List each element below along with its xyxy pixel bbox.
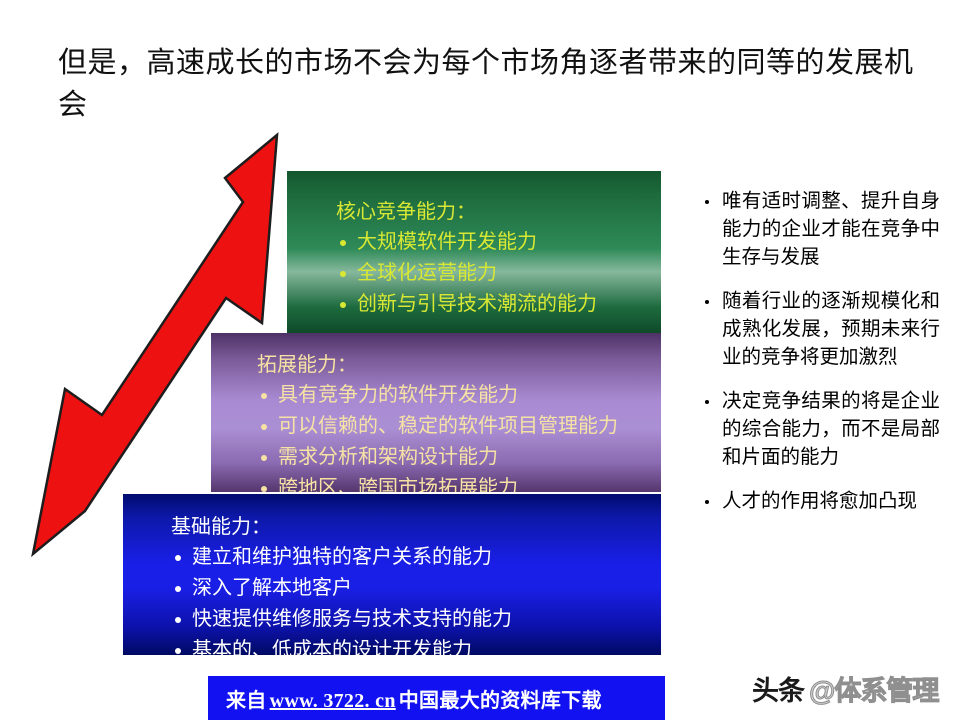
pyramid-tier-expand[interactable]: 拓展能力： 具有竞争力的软件开发能力 可以信赖的、稳定的软件项目管理能力 需求分…	[211, 333, 661, 492]
list-item: 建立和维护独特的客户关系的能力	[171, 542, 661, 573]
list-item: 深入了解本地客户	[171, 573, 661, 604]
source-url-link[interactable]: www. 3722. cn	[267, 690, 399, 712]
list-item: 跨地区、跨国市场拓展能力	[257, 473, 661, 492]
list-item: 大规模软件开发能力	[336, 227, 661, 258]
tier-base-content: 基础能力： 建立和维护独特的客户关系的能力 深入了解本地客户 快速提供维修服务与…	[123, 494, 661, 655]
side-notes-panel: 唯有适时调整、提升自身能力的企业才能在竞争中生存与发展 随着行业的逐渐规模化和成…	[700, 188, 940, 532]
source-suffix: 中国最大的资料库下载	[399, 690, 602, 712]
tier-expand-content: 拓展能力： 具有竞争力的软件开发能力 可以信赖的、稳定的软件项目管理能力 需求分…	[211, 333, 661, 492]
source-prefix: 来自	[226, 690, 267, 712]
source-bar-text: 来自www. 3722. cn中国最大的资料库下载	[208, 684, 602, 713]
list-item: 创新与引导技术潮流的能力	[336, 289, 661, 320]
list-item: 全球化运营能力	[336, 258, 661, 289]
watermark-handle: @体系管理	[809, 669, 938, 708]
list-item: 具有竞争力的软件开发能力	[257, 380, 661, 411]
tier-expand-list: 具有竞争力的软件开发能力 可以信赖的、稳定的软件项目管理能力 需求分析和架构设计…	[257, 380, 661, 492]
list-item: 人才的作用将愈加凸现	[700, 488, 940, 516]
pyramid-tier-core[interactable]: 核心竞争能力： 大规模软件开发能力 全球化运营能力 创新与引导技术潮流的能力	[287, 171, 661, 333]
watermark: 头条 @体系管理	[752, 669, 938, 708]
pyramid-tier-base[interactable]: 基础能力： 建立和维护独特的客户关系的能力 深入了解本地客户 快速提供维修服务与…	[123, 494, 661, 655]
list-item: 基本的、低成本的设计开发能力	[171, 635, 661, 655]
list-item: 随着行业的逐渐规模化和成熟化发展，预期未来行业的竞争将更加激烈	[700, 288, 940, 372]
list-item: 快速提供维修服务与技术支持的能力	[171, 604, 661, 635]
tier-core-content: 核心竞争能力： 大规模软件开发能力 全球化运营能力 创新与引导技术潮流的能力	[287, 171, 661, 320]
tier-core-heading: 核心竞争能力：	[336, 197, 661, 227]
list-item: 可以信赖的、稳定的软件项目管理能力	[257, 411, 661, 442]
page-title: 但是，高速成长的市场不会为每个市场角逐者带来的同等的发展机会	[58, 42, 918, 126]
source-bar: 来自www. 3722. cn中国最大的资料库下载	[208, 676, 665, 720]
tier-base-list: 建立和维护独特的客户关系的能力 深入了解本地客户 快速提供维修服务与技术支持的能…	[171, 542, 661, 655]
list-item: 决定竞争结果的将是企业的综合能力，而不是局部和片面的能力	[700, 388, 940, 472]
list-item: 需求分析和架构设计能力	[257, 442, 661, 473]
side-notes-list: 唯有适时调整、提升自身能力的企业才能在竞争中生存与发展 随着行业的逐渐规模化和成…	[700, 188, 940, 516]
list-item: 唯有适时调整、提升自身能力的企业才能在竞争中生存与发展	[700, 188, 940, 272]
tier-core-list: 大规模软件开发能力 全球化运营能力 创新与引导技术潮流的能力	[336, 227, 661, 320]
tier-expand-heading: 拓展能力：	[257, 350, 661, 380]
watermark-brand: 头条	[752, 669, 804, 708]
tier-base-heading: 基础能力：	[171, 512, 661, 542]
